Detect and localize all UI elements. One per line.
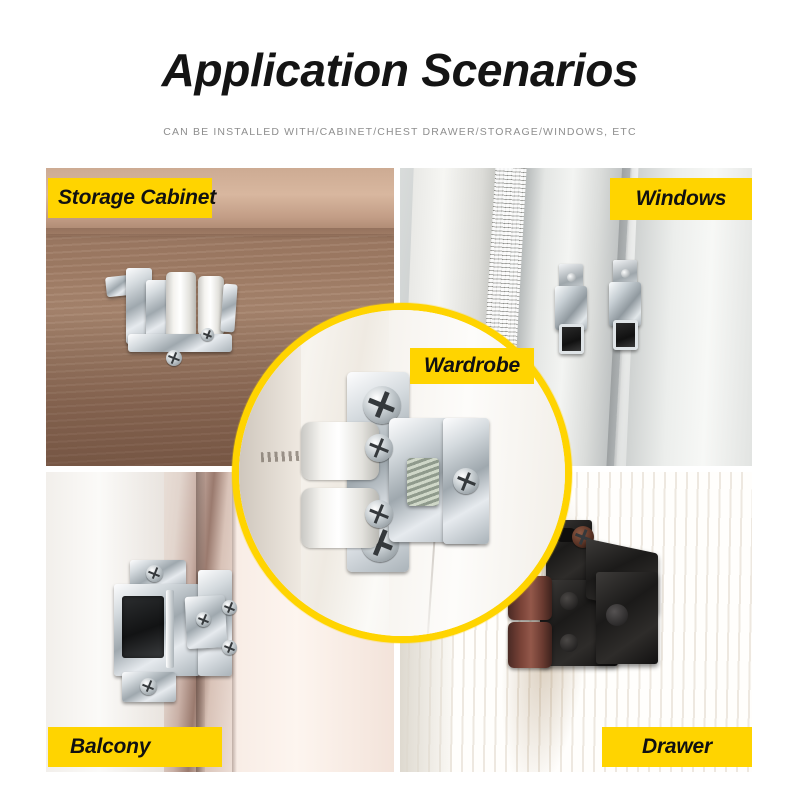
catch-base-plate	[128, 334, 232, 352]
balcony-catch-screw	[222, 640, 237, 655]
label-windows: Windows	[610, 178, 752, 220]
wardrobe-roller-screw-upper	[365, 434, 393, 462]
balcony-catch-screw	[140, 678, 157, 695]
page-subtitle: CAN BE INSTALLED WITH/CABINET/CHEST DRAW…	[0, 126, 800, 138]
balcony-catch-screw	[196, 612, 211, 627]
page-title: Application Scenarios	[0, 44, 800, 96]
balcony-door-shadow	[232, 472, 237, 772]
drawer-catch-rivet	[560, 634, 578, 652]
balcony-catch-slot	[122, 596, 164, 658]
drawer-catch-pivot	[606, 604, 628, 626]
window-catch-screw	[621, 269, 630, 278]
wardrobe-wall	[239, 310, 301, 636]
catch-roller-one	[166, 272, 196, 338]
application-scenarios-page: Application Scenarios CAN BE INSTALLED W…	[0, 0, 800, 800]
balcony-catch-highlight	[166, 590, 174, 668]
catch-screw	[166, 350, 182, 366]
window-catch-pad	[613, 320, 638, 350]
window-catch-right	[608, 260, 642, 356]
balcony-catch-screw	[222, 600, 237, 615]
label-storage-cabinet: Storage Cabinet	[48, 178, 212, 218]
wardrobe-roller-screw-lower	[365, 500, 393, 528]
label-balcony: Balcony	[48, 727, 222, 767]
label-wardrobe: Wardrobe	[410, 348, 534, 384]
header: Application Scenarios CAN BE INSTALLED W…	[0, 0, 800, 168]
label-drawer: Drawer	[602, 727, 752, 767]
wardrobe-threaded-bolt	[407, 458, 439, 506]
balcony-catch-screw	[146, 565, 163, 582]
catch-screw	[201, 328, 214, 341]
wardrobe-strike-screw	[453, 468, 479, 494]
window-catch-screw	[567, 273, 576, 282]
cabinet-shelf-edge	[46, 228, 394, 236]
